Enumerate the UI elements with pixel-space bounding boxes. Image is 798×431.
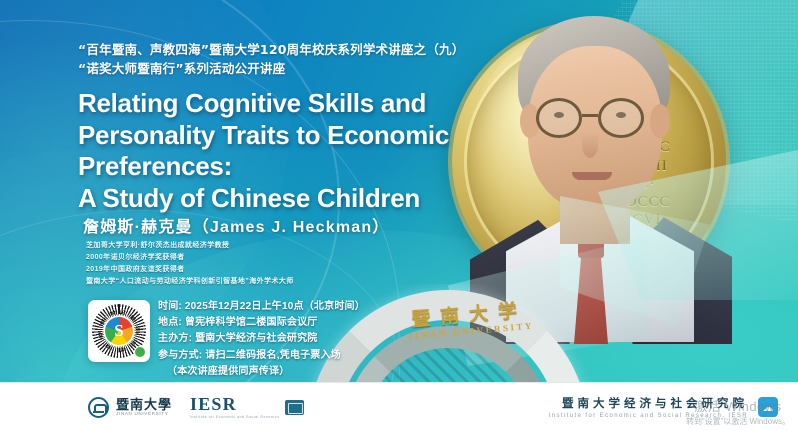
poster-title: Relating Cognitive Skills and Personalit… bbox=[78, 88, 478, 215]
iesr-logo: IESR Institute for Economic and Social R… bbox=[190, 395, 304, 419]
event-note: （本次讲座提供同声传译） bbox=[158, 364, 458, 380]
iesr-acronym: IESR bbox=[190, 395, 280, 413]
speaker-name: 詹姆斯·赫克曼（James J. Heckman） bbox=[83, 213, 503, 237]
medal-engrave-line: OB· bbox=[582, 175, 700, 193]
event-location: 地点: 曾宪梓科学馆二楼国际会议厅 bbox=[158, 315, 458, 331]
medal-engrave-line: XXXIII bbox=[582, 157, 700, 175]
cloud-icon[interactable]: ☁ bbox=[758, 397, 778, 417]
jinan-name-cn: 暨南大學 bbox=[116, 398, 172, 412]
speaker-bio: 芝加哥大学亨利·舒尔茨杰出成就经济学教授 2000年诺贝尔经济学奖获得者 201… bbox=[86, 240, 486, 288]
qr-wechat-badge-icon bbox=[134, 346, 146, 358]
jinan-university-logo: 暨南大學 JINAN UNIVERSITY bbox=[88, 397, 172, 418]
bio-line-4: 暨南大学“人口流动与劳动经济学科创新引智基地”海外学术大师 bbox=[86, 276, 486, 288]
jinan-name-en: JINAN UNIVERSITY bbox=[116, 411, 172, 416]
event-time: 时间: 2025年12月22日上午10点（北京时间） bbox=[158, 299, 458, 315]
footer-institute-right: 暨南大学经济与社会研究院 Institute for Economic and … bbox=[549, 395, 778, 419]
iesr-logo-text: IESR Institute for Economic and Social R… bbox=[190, 395, 280, 419]
bio-line-1: 芝加哥大学亨利·舒尔茨杰出成就经济学教授 bbox=[86, 240, 486, 252]
bio-line-3: 2019年中国政府友谊奖获得者 bbox=[86, 264, 486, 276]
event-details: 时间: 2025年12月22日上午10点（北京时间） 地点: 曾宪梓科学馆二楼国… bbox=[158, 299, 458, 380]
iesr-building-icon bbox=[285, 400, 304, 415]
registration-qr-code[interactable] bbox=[88, 300, 150, 362]
header-line-2: “诺奖大师暨南行”系列活动公开讲座 bbox=[78, 59, 498, 78]
medal-engrave-line: XCVI bbox=[582, 211, 700, 229]
event-organizer: 主办方: 暨南大学经济与社会研究院 bbox=[158, 331, 458, 347]
poster-footer: 暨南大學 JINAN UNIVERSITY IESR Institute for… bbox=[0, 382, 798, 431]
bio-line-2: 2000年诺贝尔经济学奖获得者 bbox=[86, 252, 486, 264]
medal-engraving: NAT· MDCCC XXXIII OB· MDCCC XCVI bbox=[582, 120, 700, 230]
institute-name-cn: 暨南大学经济与社会研究院 bbox=[549, 395, 748, 411]
lecture-poster: NAT· MDCCC XXXIII OB· MDCCC XCVI 暨南大 bbox=[0, 0, 798, 431]
title-line-3: Preferences: bbox=[78, 151, 478, 183]
qr-center-logo-icon bbox=[105, 317, 133, 345]
title-line-2: Personality Traits to Economic bbox=[78, 120, 478, 152]
event-participation: 参与方式: 请扫二维码报名,凭电子票入场 bbox=[158, 348, 458, 364]
medal-engrave-line: NAT· bbox=[582, 120, 700, 138]
jinan-seal-icon bbox=[88, 397, 109, 418]
header-line-1: “百年暨南、声教四海”暨南大学120周年校庆系列学术讲座之（九） bbox=[78, 40, 498, 59]
institute-name-en: Institute for Economic and Social Resear… bbox=[549, 413, 748, 419]
title-line-4: A Study of Chinese Children bbox=[78, 183, 478, 215]
footer-logos-left: 暨南大學 JINAN UNIVERSITY IESR Institute for… bbox=[20, 395, 304, 419]
title-line-1: Relating Cognitive Skills and bbox=[78, 88, 478, 120]
institute-names: 暨南大学经济与社会研究院 Institute for Economic and … bbox=[549, 395, 748, 419]
jinan-logo-text: 暨南大學 JINAN UNIVERSITY bbox=[116, 398, 172, 417]
iesr-fullname: Institute for Economic and Social Resear… bbox=[190, 415, 280, 419]
medal-engrave-line: MDCCC bbox=[582, 138, 700, 156]
medal-engrave-line: MDCCC bbox=[582, 193, 700, 211]
poster-header: “百年暨南、声教四海”暨南大学120周年校庆系列学术讲座之（九） “诺奖大师暨南… bbox=[78, 40, 498, 79]
